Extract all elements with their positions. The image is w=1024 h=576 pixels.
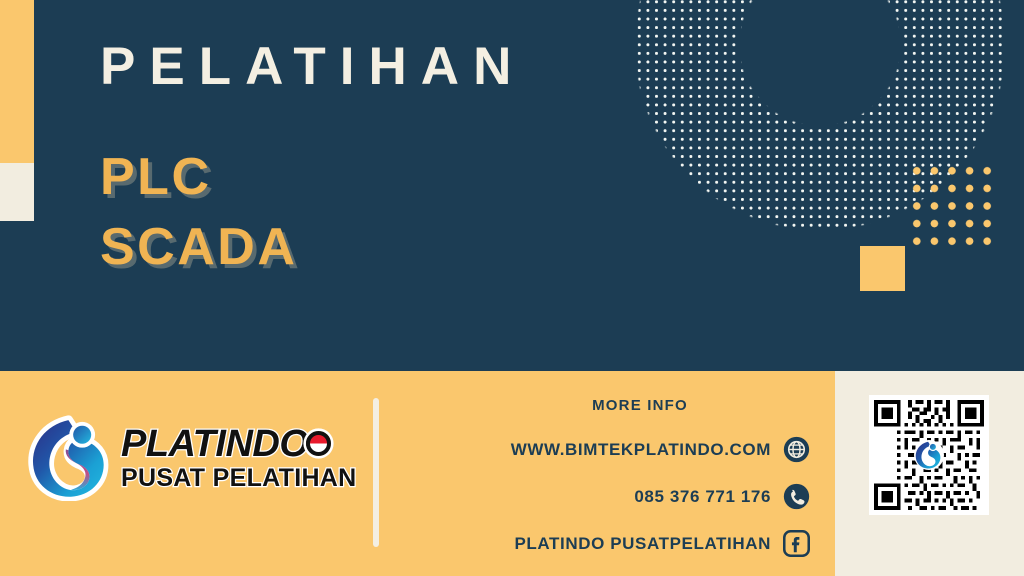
subtitle-plc: PLC: [100, 143, 525, 212]
platindo-swirl-mark: [28, 415, 114, 501]
hero-section: PELATIHAN PLC SCADA: [0, 0, 1024, 371]
qr-center-logo: [914, 440, 944, 470]
logo-wordmark: PLATINDO: [121, 425, 357, 463]
facebook-text: PLATINDO PUSATPELATIHAN: [514, 534, 771, 554]
logo-wordmark-text: PLATINDO: [121, 425, 308, 463]
logo-tagline: PUSAT PELATIHAN: [121, 465, 357, 491]
footer-divider: [373, 398, 379, 547]
contact-row-website[interactable]: WWW.BIMTEKPLATINDO.COM: [470, 436, 810, 463]
qr-panel: [835, 371, 1024, 576]
indonesia-flag-circle: [306, 431, 331, 456]
website-text: WWW.BIMTEKPLATINDO.COM: [511, 440, 771, 460]
contact-row-phone[interactable]: 085 376 771 176: [470, 483, 810, 510]
orange-accent-bar: [0, 0, 34, 163]
promotional-banner: PELATIHAN PLC SCADA: [0, 0, 1024, 576]
contact-info-block: MORE INFO WWW.BIMTEKPLATINDO.COM 085 376…: [470, 397, 810, 576]
globe-icon: [783, 436, 810, 463]
footer-section: PLATINDO PUSAT PELATIHAN MORE INFO WWW.B…: [0, 371, 1024, 576]
logo-wordmark-group: PLATINDO PUSAT PELATIHAN: [121, 425, 357, 491]
more-info-heading: MORE INFO: [470, 397, 810, 414]
facebook-icon: [783, 530, 810, 557]
qr-code[interactable]: [869, 395, 989, 515]
qr-swirl-mark: [914, 400, 944, 510]
cream-accent-bar: [0, 163, 34, 221]
contact-row-facebook[interactable]: PLATINDO PUSATPELATIHAN: [470, 530, 810, 557]
phone-text: 085 376 771 176: [634, 487, 771, 507]
orange-dot-grid-decoration: [906, 160, 994, 248]
page-title: PELATIHAN: [100, 36, 525, 99]
platindo-logo: PLATINDO PUSAT PELATIHAN: [28, 415, 357, 501]
orange-square-decoration: [860, 246, 905, 291]
phone-icon: [783, 483, 810, 510]
headline-block: PELATIHAN PLC SCADA: [100, 36, 525, 282]
subtitle-scada: SCADA: [100, 213, 525, 282]
